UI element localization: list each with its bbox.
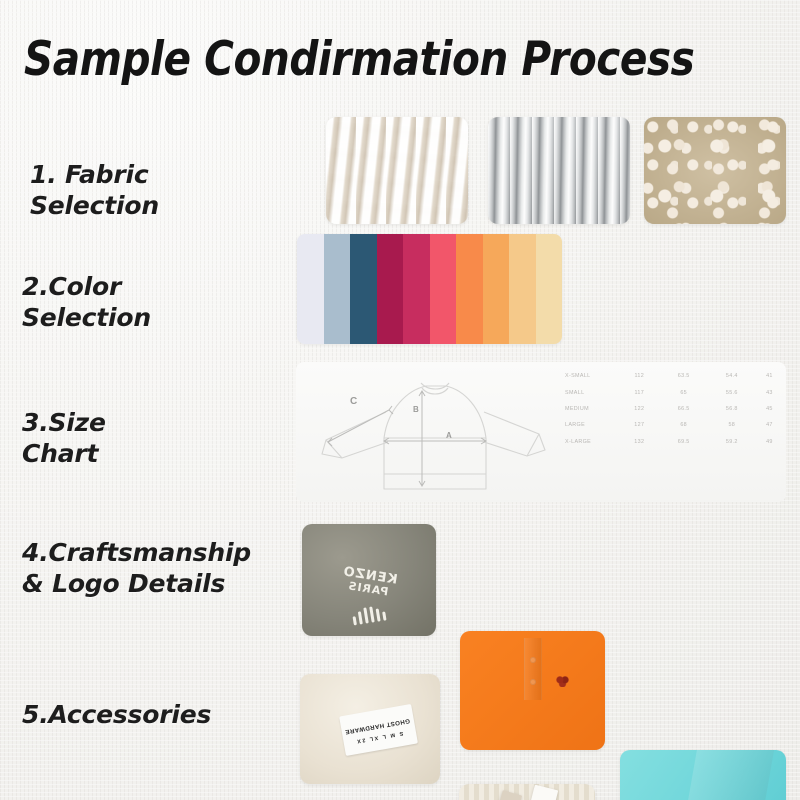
color-band-8[interactable] [509,234,536,344]
kenzo-logo-mark: KENZO PARIS [340,565,399,599]
size-value-cell: 66.5 [660,401,708,417]
color-band-4[interactable] [403,234,430,344]
size-value-cell: 127 [619,417,660,433]
size-value-cell: 59.2 [708,434,756,450]
section-label-craftsmanship: 4.Craftsmanship & Logo Details [22,538,251,599]
fabric-swatch-wavy-pleat[interactable] [488,117,630,224]
craft-swatch-kenzo-print[interactable]: KENZO PARIS [302,524,436,636]
size-chart-row: MEDIUM12266.556.845 [561,401,783,417]
size-chart-row: X-SMALL11263.554.441 [561,368,783,384]
polo-button-bottom [530,679,536,685]
measure-label-a: A [446,431,452,440]
size-value-cell: 43 [756,384,783,400]
size-chart-row: SMALL1176555.643 [561,384,783,400]
polo-placket [524,638,542,700]
size-chart-panel[interactable]: A B C X-SMALL11263.554.441SMALL1176555.6… [296,362,786,502]
size-value-cell: 65 [660,384,708,400]
size-value-cell: 56.8 [708,401,756,417]
size-value-cell: 55.6 [708,384,756,400]
size-value-cell: 122 [619,401,660,417]
section-accessories: 5.Accessories GHOST HARDWARE S M L XL 2X… [0,0,170,330]
fabric-swatch-chunky-knit[interactable] [326,117,468,224]
kenzo-stems-icon [351,604,386,625]
fabric-swatch-boucle[interactable] [644,117,786,224]
size-chart-table: X-SMALL11263.554.441SMALL1176555.643MEDI… [561,368,783,450]
size-name-cell: X-SMALL [561,368,619,384]
accessory-swatch-hang-tags[interactable]: ℘ ℒ [459,784,595,800]
woven-care-label: GHOST HARDWARE S M L XL 2X [339,704,418,756]
size-value-cell: 47 [756,417,783,433]
sweater-measurement-diagram: A B C [296,362,566,502]
color-band-1[interactable] [324,234,351,344]
size-value-cell: 45 [756,401,783,417]
size-value-cell: 132 [619,434,660,450]
shoulder-seam [674,750,776,800]
section-label-size-chart: 3.Size Chart [22,408,106,469]
size-value-cell: 49 [756,434,783,450]
color-band-5[interactable] [430,234,457,344]
color-band-2[interactable] [350,234,377,344]
size-value-cell: 63.5 [660,368,708,384]
color-band-0[interactable] [297,234,324,344]
size-name-cell: X-LARGE [561,434,619,450]
size-name-cell: MEDIUM [561,401,619,417]
size-chart-table-body: X-SMALL11263.554.441SMALL1176555.643MEDI… [561,368,783,450]
craft-swatch-turquoise-logo[interactable]: BURBERRY LONDON ENGLAND [620,750,786,800]
size-value-cell: 68 [660,417,708,433]
section-label-accessories: 5.Accessories [22,700,211,731]
infographic-board: Sample Condirmation Process 1. Fabric Se… [0,0,800,800]
size-value-cell: 69.5 [660,434,708,450]
color-band-6[interactable] [456,234,483,344]
measure-label-b: B [413,405,419,414]
size-name-cell: SMALL [561,384,619,400]
size-value-cell: 41 [756,368,783,384]
size-value-cell: 112 [619,368,660,384]
accessory-swatch-care-label[interactable]: GHOST HARDWARE S M L XL 2X [300,674,440,784]
measure-label-c: C [350,396,357,407]
size-value-cell: 58 [708,417,756,433]
size-chart-row: LARGE127685847 [561,417,783,433]
color-band-9[interactable] [536,234,563,344]
hang-tag-beige [476,790,522,800]
size-value-cell: 54.4 [708,368,756,384]
polo-embroidered-logo-icon [556,676,569,687]
size-value-cell: 117 [619,384,660,400]
color-palette-strip[interactable] [297,234,562,344]
size-name-cell: LARGE [561,417,619,433]
color-band-7[interactable] [483,234,510,344]
craft-swatch-orange-polo[interactable] [460,631,605,750]
size-chart-row: X-LARGE13269.559.249 [561,434,783,450]
color-band-3[interactable] [377,234,404,344]
